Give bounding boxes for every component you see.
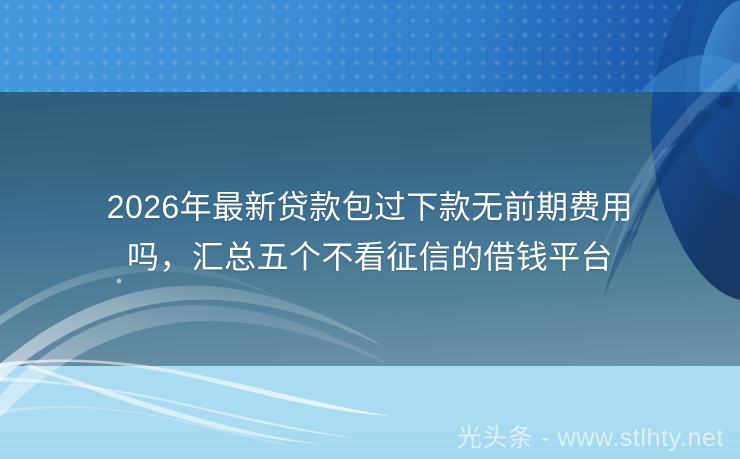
cover-image-canvas: 2026年最新贷款包过下款无前期费用 吗，汇总五个不看征信的借钱平台 光头条 -… <box>0 0 740 459</box>
dot-texture-overlay <box>0 0 740 92</box>
page-title-line-2: 吗，汇总五个不看征信的借钱平台 <box>0 232 740 282</box>
page-title-line-1: 2026年最新贷款包过下款无前期费用 <box>0 182 740 232</box>
site-watermark: 光头条 - www.stlhty.net <box>457 423 724 453</box>
page-title: 2026年最新贷款包过下款无前期费用 吗，汇总五个不看征信的借钱平台 <box>0 182 740 282</box>
